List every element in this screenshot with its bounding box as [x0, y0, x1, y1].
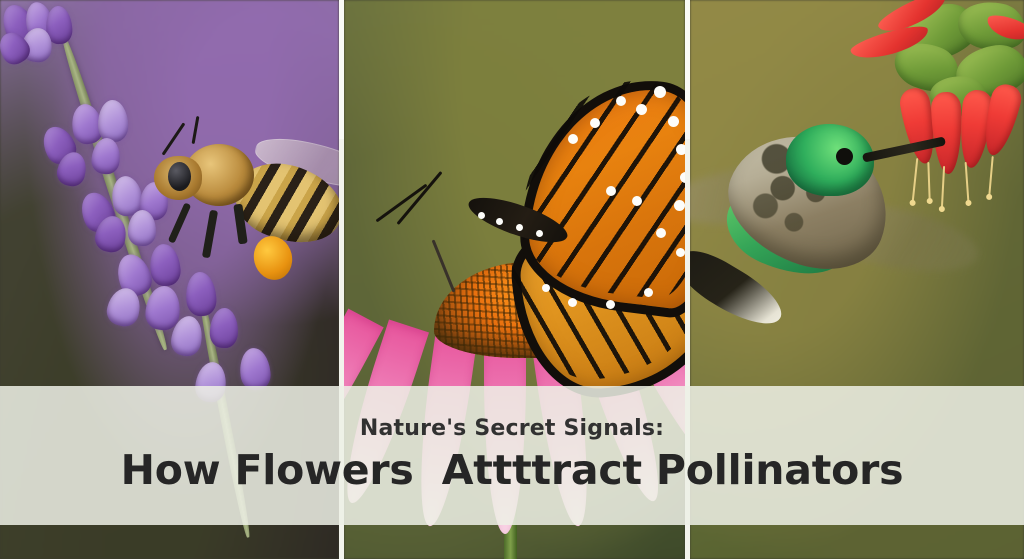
- butterfly-wing-spot: [676, 248, 685, 257]
- butterfly-body-spot: [478, 212, 485, 219]
- butterfly-wing-spot: [656, 228, 666, 238]
- hummingbird-head: [786, 124, 874, 196]
- butterfly-wing-spot: [654, 86, 666, 98]
- bee-eye: [168, 162, 191, 191]
- bee-leg: [202, 210, 218, 259]
- honeybee: [150, 118, 330, 278]
- bee-antenna: [162, 122, 186, 155]
- butterfly-wing-spot: [632, 196, 642, 206]
- banner-subtitle: Nature's Secret Signals:: [360, 417, 664, 441]
- bee-antenna: [192, 116, 200, 144]
- butterfly-wing-spot: [616, 96, 626, 106]
- butterfly-wing-spot: [568, 298, 577, 307]
- butterfly-wing-spot: [674, 200, 685, 211]
- butterfly-body-spot: [536, 230, 543, 237]
- bee-leg: [168, 202, 191, 243]
- butterfly-wing-spot: [644, 288, 653, 297]
- butterfly-wing-spot: [676, 144, 685, 155]
- butterfly-wing-spot: [590, 118, 600, 128]
- butterfly-body-spot: [516, 224, 523, 231]
- hummingbird-eye: [836, 148, 853, 165]
- butterfly-wing-spot: [542, 284, 550, 292]
- banner-title: How Flowers Attttract Pollinators: [121, 448, 904, 494]
- butterfly-body-spot: [496, 218, 503, 225]
- butterfly-wing-spot: [568, 134, 578, 144]
- butterfly-wing-spot: [606, 300, 615, 309]
- butterfly-wing-spot: [636, 104, 647, 115]
- butterfly-wing-spot: [606, 186, 616, 196]
- banner-text-block: Nature's Secret Signals: How Flowers Att…: [0, 386, 1024, 525]
- pollinator-banner-image: Nature's Secret Signals: How Flowers Att…: [0, 0, 1024, 559]
- butterfly-wing-spot: [668, 116, 679, 127]
